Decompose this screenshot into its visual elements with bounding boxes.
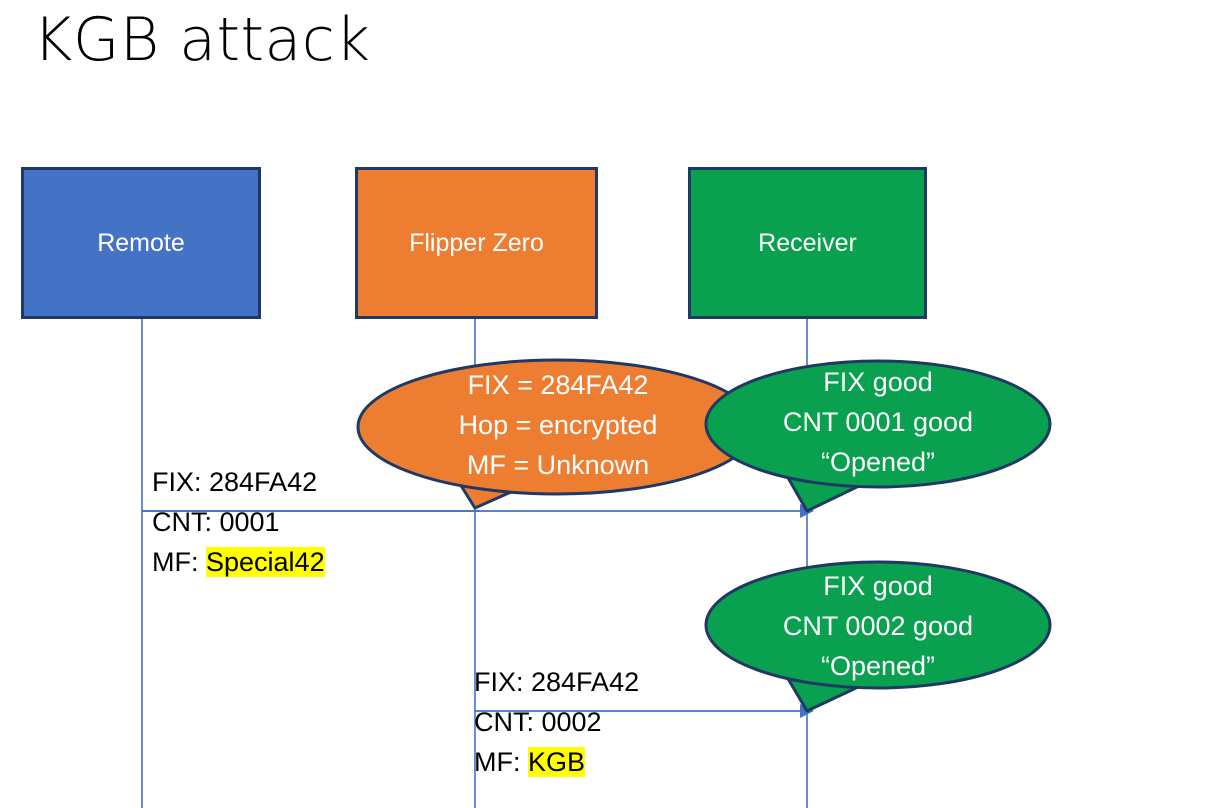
message-1-cnt: CNT: 0001 (152, 502, 325, 542)
message-2-mf: MF: KGB (474, 742, 639, 782)
callout-receiver-1-shape (706, 361, 1050, 511)
message-2-fix: FIX: 284FA42 (474, 662, 639, 702)
node-label-flipper: Flipper Zero (409, 228, 544, 258)
node-box-flipper[interactable]: Flipper Zero (355, 167, 598, 319)
node-label-remote: Remote (97, 228, 185, 258)
message-1-mf: MF: Special42 (152, 542, 325, 582)
callout-flipper-shape (358, 360, 756, 508)
message-1-mf-prefix: MF: (152, 547, 206, 577)
message-1-mf-value: Special42 (206, 547, 325, 577)
callout-receiver-2-shape (706, 562, 1050, 711)
node-label-receiver: Receiver (758, 228, 857, 258)
message-2-mf-value: KGB (528, 747, 585, 777)
slide-canvas: KGB attack (0, 0, 1218, 808)
message-2-mf-prefix: MF: (474, 747, 528, 777)
node-box-receiver[interactable]: Receiver (688, 167, 927, 319)
message-2-label: FIX: 284FA42 CNT: 0002 MF: KGB (474, 662, 639, 782)
message-1-label: FIX: 284FA42 CNT: 0001 MF: Special42 (152, 462, 325, 582)
node-box-remote[interactable]: Remote (21, 167, 261, 319)
message-1-fix: FIX: 284FA42 (152, 462, 325, 502)
message-2-cnt: CNT: 0002 (474, 702, 639, 742)
